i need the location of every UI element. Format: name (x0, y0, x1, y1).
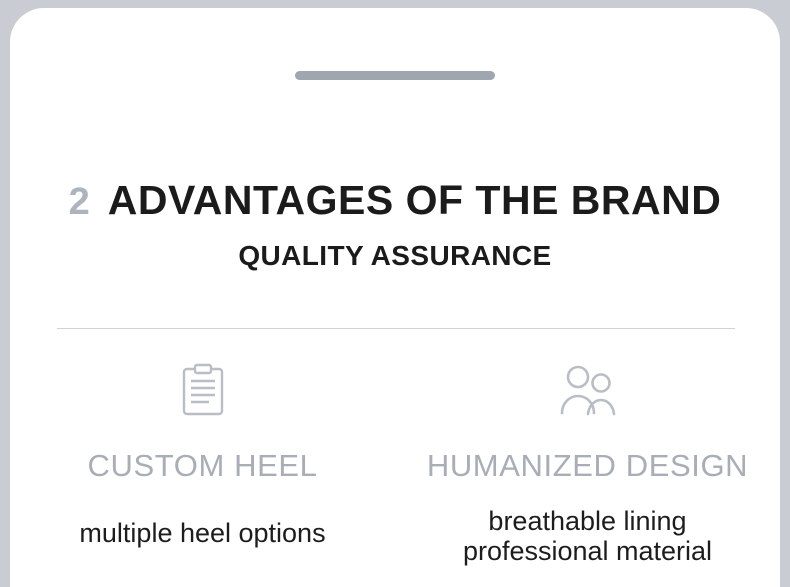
section-number: 2 (69, 183, 90, 221)
drag-handle[interactable] (295, 71, 495, 80)
feature-custom-heel: CUSTOM HEEL multiple heel options (10, 360, 395, 566)
page-subtitle: QUALITY ASSURANCE (10, 240, 780, 272)
page-title: ADVANTAGES OF THE BRAND (108, 180, 722, 221)
feature-title: CUSTOM HEEL (88, 448, 318, 484)
people-icon (557, 360, 619, 420)
content-card: 2 ADVANTAGES OF THE BRAND QUALITY ASSURA… (10, 8, 780, 587)
page-root: 2 ADVANTAGES OF THE BRAND QUALITY ASSURA… (0, 0, 790, 587)
clipboard-icon (181, 360, 225, 420)
heading-row: 2 ADVANTAGES OF THE BRAND (10, 180, 780, 221)
feature-description: multiple heel options (79, 518, 325, 548)
divider (57, 328, 735, 329)
feature-description: breathable lining professional material (463, 506, 712, 566)
feature-humanized-design: HUMANIZED DESIGN breathable lining profe… (395, 360, 780, 566)
feature-title: HUMANIZED DESIGN (427, 448, 748, 484)
feature-list: CUSTOM HEEL multiple heel options HUMANI… (10, 360, 780, 566)
